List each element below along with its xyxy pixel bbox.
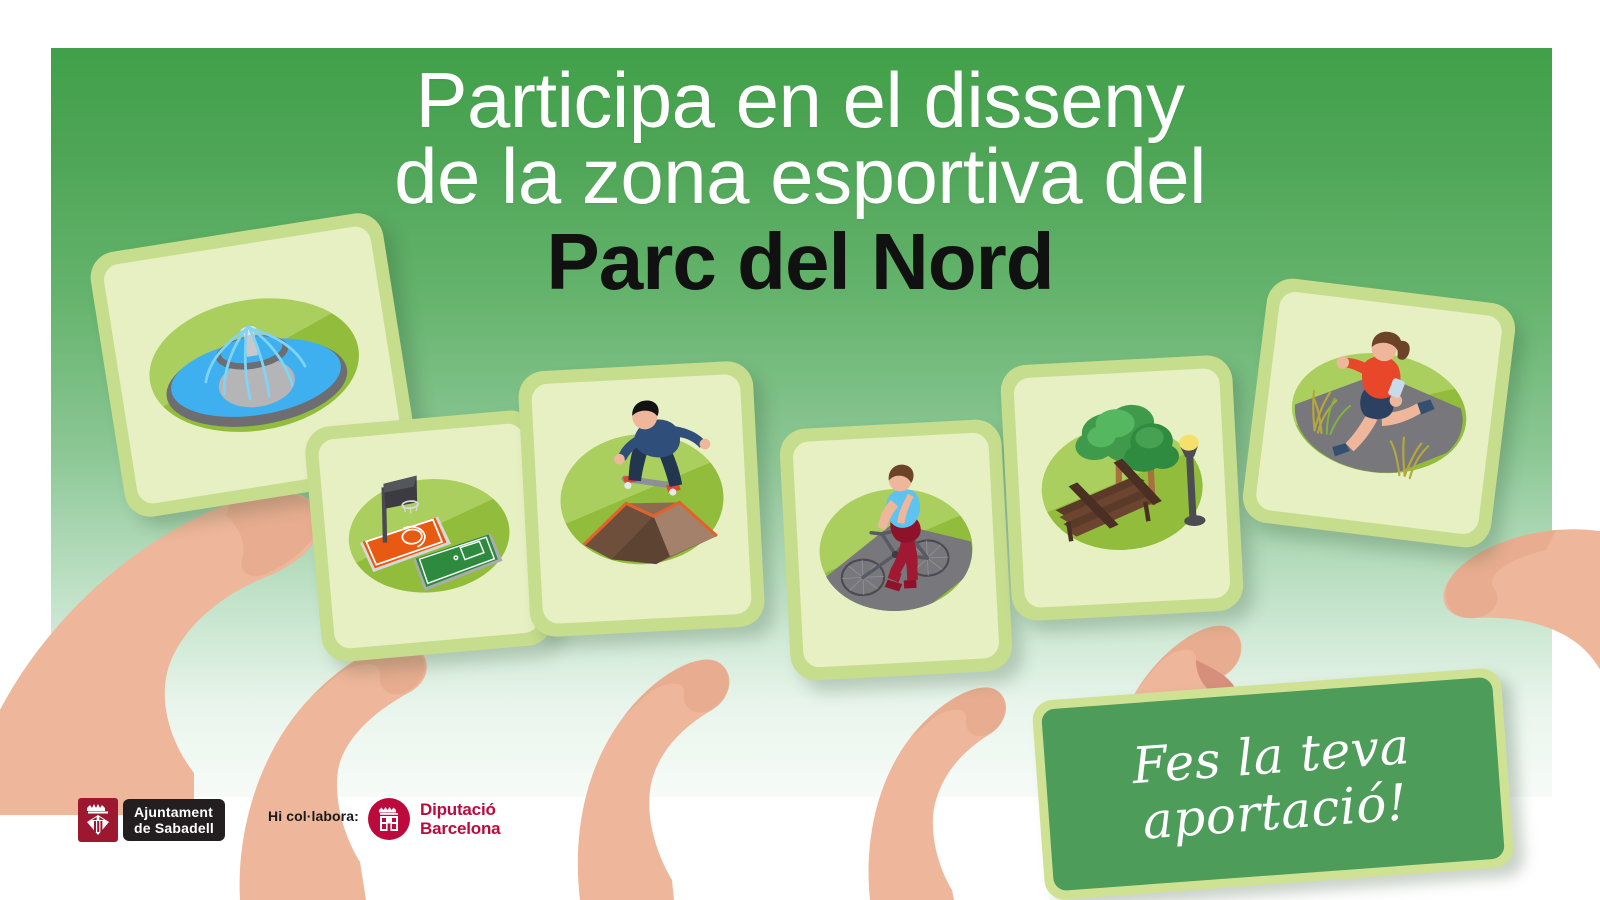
skateboarder-icon [531, 374, 752, 625]
sabadell-name-plate: Ajuntament de Sabadell [123, 799, 225, 841]
card-skate-inner [531, 374, 752, 625]
card-bike-path[interactable] [779, 418, 1014, 681]
diputacio-logo[interactable]: Diputació Barcelona [368, 798, 500, 840]
card-bench-inner [1013, 368, 1231, 608]
sabadell-line-1: Ajuntament [134, 804, 214, 820]
sabadell-crest-icon [78, 798, 118, 842]
card-sports-courts[interactable] [303, 408, 555, 663]
card-bike-inner [792, 432, 1000, 668]
diputacio-crest-icon [368, 798, 410, 840]
cyclist-icon [792, 432, 1000, 668]
diputacio-name: Diputació Barcelona [420, 800, 500, 838]
card-park-bench[interactable] [999, 354, 1244, 622]
footer-logos: Ajuntament de Sabadell Hi col·labora: [0, 780, 1600, 900]
card-skate-ramp[interactable] [517, 360, 766, 638]
card-running-inner [1254, 290, 1503, 536]
card-running-track[interactable] [1240, 276, 1518, 551]
diputacio-line-2: Barcelona [420, 819, 500, 838]
poster-canvas: Participa en el disseny de la zona espor… [0, 0, 1600, 900]
sabadell-logo[interactable]: Ajuntament de Sabadell [78, 798, 225, 842]
bench-tree-lamp-icon [1013, 368, 1231, 608]
card-courts-inner [317, 422, 541, 649]
collaborate-label: Hi col·labora: [268, 808, 359, 824]
runner-icon [1254, 290, 1503, 536]
basketball-football-court-icon [317, 422, 541, 649]
diputacio-line-1: Diputació [420, 800, 500, 819]
sabadell-line-2: de Sabadell [134, 820, 214, 836]
